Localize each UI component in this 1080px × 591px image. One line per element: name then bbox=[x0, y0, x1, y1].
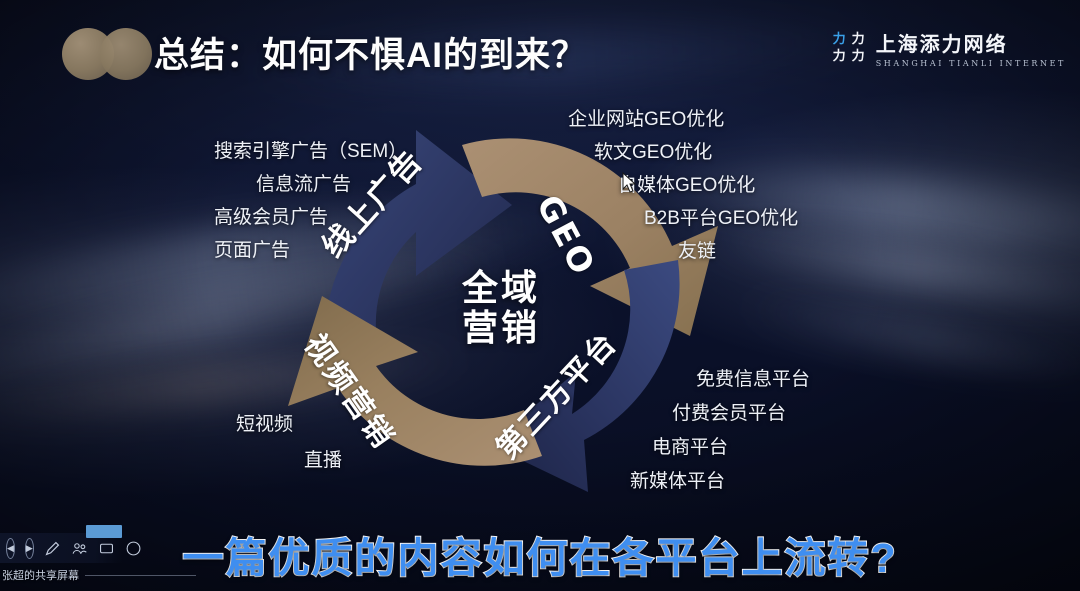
logo-glyph-1: 力 bbox=[831, 32, 848, 47]
list-item: 搜索引擎广告（SEM） bbox=[214, 142, 407, 161]
items-online-ads: 搜索引擎广告（SEM） 信息流广告 高级会员广告 页面广告 bbox=[214, 142, 407, 274]
next-slide-icon[interactable]: ▶ bbox=[25, 538, 34, 559]
list-item: 新媒体平台 bbox=[630, 472, 810, 491]
list-item: 短视频 bbox=[236, 415, 342, 434]
list-item: 付费会员平台 bbox=[672, 404, 810, 423]
logo-glyph-2: 力 bbox=[850, 32, 867, 47]
list-item: 高级会员广告 bbox=[214, 208, 407, 227]
participants-icon[interactable] bbox=[71, 538, 88, 559]
logo-glyph-3: 力 bbox=[831, 49, 848, 64]
logo-glyph-4: 力 bbox=[850, 49, 867, 64]
center-line-2: 营销 bbox=[266, 308, 736, 348]
share-status-rule bbox=[85, 575, 196, 576]
screen-icon[interactable] bbox=[98, 538, 115, 559]
list-item: 自媒体GEO优化 bbox=[618, 176, 798, 195]
diagram-center-label: 全域 营销 bbox=[266, 268, 736, 349]
list-item: 软文GEO优化 bbox=[594, 143, 798, 162]
page-title: 总结：如何不惧AI的到来？ bbox=[154, 27, 587, 78]
list-item: 免费信息平台 bbox=[696, 370, 810, 389]
items-video-marketing: 短视频 直播 bbox=[236, 415, 342, 487]
logo-name-cn: 上海添力网络 bbox=[876, 28, 1066, 57]
list-item: 电商平台 bbox=[652, 438, 810, 457]
share-status-label: 张超的共享屏幕 bbox=[0, 567, 79, 583]
items-geo: 企业网站GEO优化 软文GEO优化 自媒体GEO优化 B2B平台GEO优化 友链 bbox=[568, 110, 798, 275]
toolbar-highlight bbox=[86, 525, 122, 538]
logo-mark-icon: 力 力 力 力 bbox=[831, 32, 867, 64]
list-item: 页面广告 bbox=[214, 241, 407, 260]
list-item: B2B平台GEO优化 bbox=[644, 209, 798, 228]
meeting-toolbar[interactable]: ◀ ▶ bbox=[0, 533, 122, 563]
list-item: 信息流广告 bbox=[256, 175, 407, 194]
mouse-cursor-icon bbox=[622, 172, 638, 194]
decoration-circle-right bbox=[100, 28, 152, 80]
share-status-bar: 张超的共享屏幕 bbox=[0, 565, 196, 585]
pen-icon[interactable] bbox=[44, 538, 61, 559]
list-item: 友链 bbox=[678, 242, 798, 261]
previous-slide-icon[interactable]: ◀ bbox=[6, 538, 15, 559]
items-third-party: 免费信息平台 付费会员平台 电商平台 新媒体平台 bbox=[630, 370, 810, 506]
list-item: 直播 bbox=[304, 451, 342, 470]
banner-text: 一篇优质的内容如何在各平台上流转? bbox=[182, 524, 897, 584]
more-icon[interactable] bbox=[125, 538, 142, 559]
title-decoration-icon bbox=[62, 28, 166, 80]
company-logo: 力 力 力 力 上海添力网络 SHANGHAI TIANLI INTERNET bbox=[831, 28, 1066, 68]
logo-name-en: SHANGHAI TIANLI INTERNET bbox=[876, 59, 1066, 68]
list-item: 企业网站GEO优化 bbox=[568, 110, 798, 129]
logo-text: 上海添力网络 SHANGHAI TIANLI INTERNET bbox=[876, 28, 1066, 68]
